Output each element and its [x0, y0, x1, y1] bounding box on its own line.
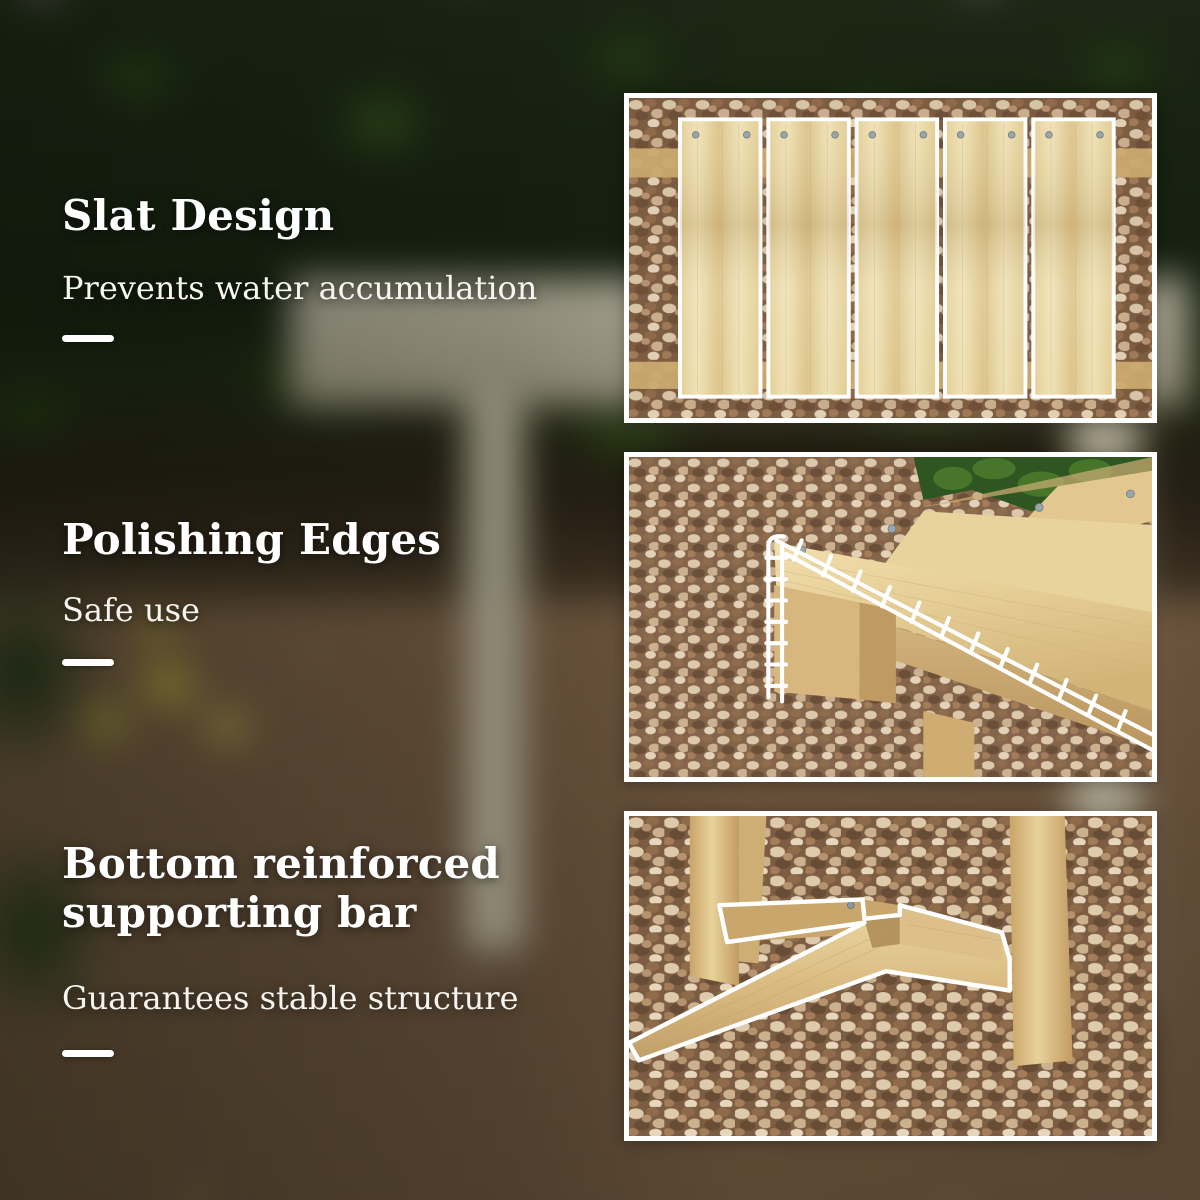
- feature-block-supporting-bar: Bottom reinforced supporting bar Guarant…: [62, 840, 622, 1057]
- polishing-edges-photo: [629, 457, 1152, 777]
- supporting-bar-photo: [629, 816, 1152, 1136]
- product-feature-graphic: Slat Design Prevents water accumulation …: [0, 0, 1200, 1200]
- photo-panel-polishing-edges: [624, 452, 1157, 782]
- photo-panel-supporting-bar: [624, 811, 1157, 1141]
- feature-title: Polishing Edges: [62, 516, 622, 565]
- feature-title: Slat Design: [62, 192, 622, 241]
- feature-subtitle: Guarantees stable structure: [62, 979, 622, 1017]
- accent-dash-icon: [62, 1050, 114, 1057]
- photo-panel-slat-design: [624, 93, 1157, 423]
- slat-design-photo: [629, 98, 1152, 418]
- feature-block-polishing-edges: Polishing Edges Safe use: [62, 516, 622, 666]
- feature-title: Bottom reinforced supporting bar: [62, 840, 622, 937]
- feature-subtitle: Safe use: [62, 591, 622, 629]
- accent-dash-icon: [62, 335, 114, 342]
- feature-block-slat-design: Slat Design Prevents water accumulation: [62, 192, 622, 342]
- feature-subtitle: Prevents water accumulation: [62, 269, 622, 307]
- accent-dash-icon: [62, 659, 114, 666]
